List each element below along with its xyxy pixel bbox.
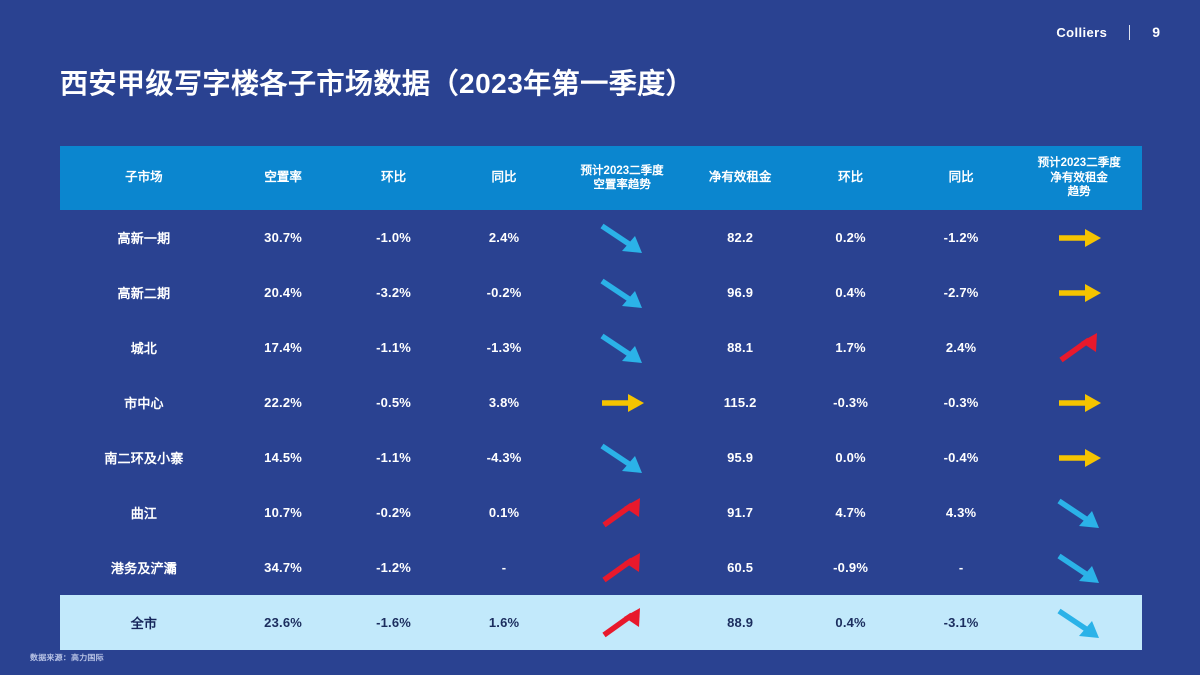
slide-canvas: Colliers 9 西安甲级写字楼各子市场数据（2023年第一季度） 子市场 … — [0, 0, 1200, 675]
cell-vacancy-trend — [559, 265, 685, 320]
cell-net-effective-rent: 88.1 — [685, 320, 795, 375]
cell-vacancy-rate: 17.4% — [228, 320, 338, 375]
table-row: 全市23.6%-1.6%1.6%88.90.4%-3.1% — [60, 595, 1142, 650]
cell-submarket: 港务及浐灞 — [60, 540, 228, 595]
arrow-right-yellow — [1051, 441, 1107, 475]
cell-vacancy-trend — [559, 540, 685, 595]
cell-vacancy-yoy: -1.3% — [449, 320, 559, 375]
arrow-right-yellow — [594, 386, 650, 420]
arrow-right-yellow-icon — [1051, 441, 1107, 475]
arrow-down-right-cyan-icon — [1051, 606, 1107, 640]
cell-vacancy-rate: 14.5% — [228, 430, 338, 485]
cell-rent-yoy: 4.3% — [906, 485, 1016, 540]
arrow-down-right-cyan — [594, 276, 650, 310]
arrow-down-right-cyan — [1051, 496, 1107, 530]
table-header: 子市场 空置率 环比 同比 预计2023二季度 空置率趋势 净有效租金 环比 同… — [60, 146, 1142, 210]
cell-net-effective-rent: 88.9 — [685, 595, 795, 650]
cell-submarket: 南二环及小寨 — [60, 430, 228, 485]
cell-net-effective-rent: 91.7 — [685, 485, 795, 540]
cell-rent-qoq: -0.3% — [795, 375, 905, 430]
cell-vacancy-yoy: - — [449, 540, 559, 595]
arrow-down-right-cyan-icon — [1051, 496, 1107, 530]
page-number: 9 — [1152, 24, 1160, 40]
cell-submarket: 全市 — [60, 595, 228, 650]
arrow-down-right-cyan — [594, 331, 650, 365]
table-header-row: 子市场 空置率 环比 同比 预计2023二季度 空置率趋势 净有效租金 环比 同… — [60, 146, 1142, 210]
column-header-net-effective-rent: 净有效租金 — [685, 146, 795, 210]
source-note: 数据来源：高力国际 — [30, 653, 104, 663]
table-row: 港务及浐灞34.7%-1.2%-60.5-0.9%- — [60, 540, 1142, 595]
cell-vacancy-qoq: -1.2% — [338, 540, 448, 595]
cell-vacancy-yoy: -4.3% — [449, 430, 559, 485]
arrow-down-right-cyan — [1051, 551, 1107, 585]
arrow-down-right-cyan-icon — [594, 441, 650, 475]
cell-rent-yoy: - — [906, 540, 1016, 595]
page-title: 西安甲级写字楼各子市场数据（2023年第一季度） — [60, 62, 694, 102]
cell-submarket: 曲江 — [60, 485, 228, 540]
cell-vacancy-qoq: -1.1% — [338, 430, 448, 485]
arrow-up-right-red — [1051, 331, 1107, 365]
cell-vacancy-trend — [559, 595, 685, 650]
column-header-rent-trend: 预计2023二季度 净有效租金 趋势 — [1016, 146, 1142, 210]
cell-rent-yoy: -2.7% — [906, 265, 1016, 320]
cell-vacancy-rate: 23.6% — [228, 595, 338, 650]
cell-net-effective-rent: 60.5 — [685, 540, 795, 595]
cell-rent-trend — [1016, 430, 1142, 485]
arrow-up-right-red — [594, 551, 650, 585]
arrow-right-yellow-icon — [1051, 221, 1107, 255]
table-row: 曲江10.7%-0.2%0.1%91.74.7%4.3% — [60, 485, 1142, 540]
cell-rent-yoy: -0.3% — [906, 375, 1016, 430]
colliers-logo: Colliers — [1056, 25, 1107, 40]
brand-bar: Colliers 9 — [1056, 24, 1160, 40]
cell-vacancy-qoq: -1.1% — [338, 320, 448, 375]
cell-rent-trend — [1016, 485, 1142, 540]
brand-separator — [1129, 25, 1130, 40]
arrow-down-right-cyan-icon — [594, 331, 650, 365]
cell-rent-qoq: 4.7% — [795, 485, 905, 540]
cell-vacancy-yoy: 0.1% — [449, 485, 559, 540]
cell-vacancy-qoq: -0.2% — [338, 485, 448, 540]
arrow-up-right-red-icon — [594, 551, 650, 585]
table-row: 高新一期30.7%-1.0%2.4%82.20.2%-1.2% — [60, 210, 1142, 265]
cell-vacancy-yoy: 1.6% — [449, 595, 559, 650]
cell-rent-trend — [1016, 210, 1142, 265]
cell-net-effective-rent: 96.9 — [685, 265, 795, 320]
arrow-up-right-red-icon — [1051, 331, 1107, 365]
cell-vacancy-rate: 22.2% — [228, 375, 338, 430]
data-table-container: 子市场 空置率 环比 同比 预计2023二季度 空置率趋势 净有效租金 环比 同… — [60, 146, 1142, 650]
cell-vacancy-yoy: 3.8% — [449, 375, 559, 430]
cell-submarket: 城北 — [60, 320, 228, 375]
cell-rent-yoy: 2.4% — [906, 320, 1016, 375]
arrow-down-right-cyan — [594, 221, 650, 255]
arrow-down-right-cyan — [1051, 606, 1107, 640]
arrow-up-right-red — [594, 496, 650, 530]
arrow-right-yellow — [1051, 276, 1107, 310]
arrow-down-right-cyan-icon — [594, 276, 650, 310]
cell-vacancy-qoq: -0.5% — [338, 375, 448, 430]
cell-vacancy-trend — [559, 210, 685, 265]
arrow-right-yellow-icon — [594, 386, 650, 420]
cell-rent-qoq: 1.7% — [795, 320, 905, 375]
cell-vacancy-trend — [559, 485, 685, 540]
cell-rent-trend — [1016, 375, 1142, 430]
cell-submarket: 市中心 — [60, 375, 228, 430]
cell-submarket: 高新二期 — [60, 265, 228, 320]
column-header-rent-yoy: 同比 — [906, 146, 1016, 210]
cell-net-effective-rent: 115.2 — [685, 375, 795, 430]
table-row: 高新二期20.4%-3.2%-0.2%96.90.4%-2.7% — [60, 265, 1142, 320]
cell-rent-qoq: 0.4% — [795, 265, 905, 320]
cell-rent-trend — [1016, 540, 1142, 595]
cell-rent-qoq: 0.4% — [795, 595, 905, 650]
arrow-right-yellow-icon — [1051, 276, 1107, 310]
column-header-rent-qoq: 环比 — [795, 146, 905, 210]
table-row: 城北17.4%-1.1%-1.3%88.11.7%2.4% — [60, 320, 1142, 375]
cell-rent-yoy: -1.2% — [906, 210, 1016, 265]
table-body: 高新一期30.7%-1.0%2.4%82.20.2%-1.2%高新二期20.4%… — [60, 210, 1142, 650]
cell-vacancy-trend — [559, 320, 685, 375]
arrow-right-yellow — [1051, 386, 1107, 420]
arrow-up-right-red — [594, 606, 650, 640]
cell-vacancy-trend — [559, 430, 685, 485]
cell-vacancy-yoy: 2.4% — [449, 210, 559, 265]
cell-vacancy-rate: 10.7% — [228, 485, 338, 540]
cell-rent-qoq: 0.2% — [795, 210, 905, 265]
cell-vacancy-trend — [559, 375, 685, 430]
cell-net-effective-rent: 82.2 — [685, 210, 795, 265]
cell-vacancy-qoq: -1.0% — [338, 210, 448, 265]
arrow-up-right-red-icon — [594, 606, 650, 640]
cell-submarket: 高新一期 — [60, 210, 228, 265]
arrow-up-right-red-icon — [594, 496, 650, 530]
column-header-vacancy-qoq: 环比 — [338, 146, 448, 210]
arrow-right-yellow-icon — [1051, 386, 1107, 420]
column-header-submarket: 子市场 — [60, 146, 228, 210]
column-header-vacancy-rate: 空置率 — [228, 146, 338, 210]
cell-net-effective-rent: 95.9 — [685, 430, 795, 485]
cell-vacancy-rate: 20.4% — [228, 265, 338, 320]
cell-vacancy-qoq: -3.2% — [338, 265, 448, 320]
table-row: 南二环及小寨14.5%-1.1%-4.3%95.90.0%-0.4% — [60, 430, 1142, 485]
cell-rent-qoq: 0.0% — [795, 430, 905, 485]
cell-rent-qoq: -0.9% — [795, 540, 905, 595]
column-header-vacancy-trend: 预计2023二季度 空置率趋势 — [559, 146, 685, 210]
arrow-down-right-cyan — [594, 441, 650, 475]
table-row: 市中心22.2%-0.5%3.8%115.2-0.3%-0.3% — [60, 375, 1142, 430]
cell-rent-trend — [1016, 320, 1142, 375]
cell-vacancy-yoy: -0.2% — [449, 265, 559, 320]
arrow-right-yellow — [1051, 221, 1107, 255]
cell-vacancy-rate: 30.7% — [228, 210, 338, 265]
cell-rent-yoy: -3.1% — [906, 595, 1016, 650]
cell-rent-trend — [1016, 265, 1142, 320]
submarket-data-table: 子市场 空置率 环比 同比 预计2023二季度 空置率趋势 净有效租金 环比 同… — [60, 146, 1142, 650]
cell-rent-yoy: -0.4% — [906, 430, 1016, 485]
cell-vacancy-rate: 34.7% — [228, 540, 338, 595]
cell-rent-trend — [1016, 595, 1142, 650]
cell-vacancy-qoq: -1.6% — [338, 595, 448, 650]
arrow-down-right-cyan-icon — [594, 221, 650, 255]
arrow-down-right-cyan-icon — [1051, 551, 1107, 585]
column-header-vacancy-yoy: 同比 — [449, 146, 559, 210]
